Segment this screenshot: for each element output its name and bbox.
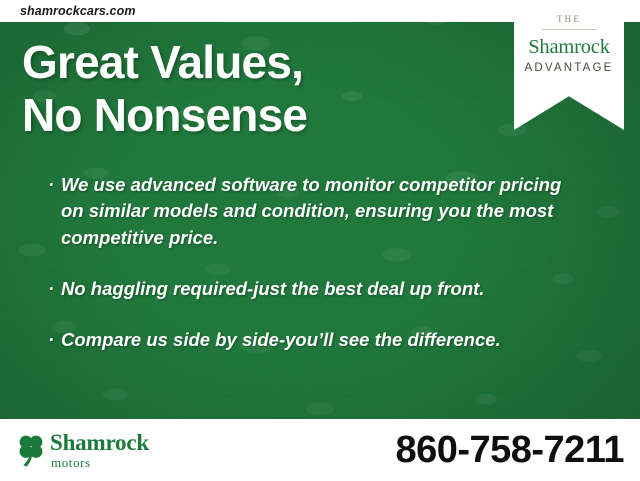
website-url[interactable]: shamrockcars.com: [0, 4, 136, 18]
bullet-dot-icon: ·: [48, 276, 61, 302]
advertisement-banner: shamrockcars.com THE Shamrock ADVANTAGE …: [0, 0, 640, 481]
badge-the-label: THE: [514, 14, 624, 24]
bullet-text: We use advanced software to monitor comp…: [61, 172, 578, 251]
headline-line-1: Great Values,: [22, 36, 307, 89]
dealer-name: Shamrock: [50, 431, 149, 454]
dealer-name-block: Shamrock motors: [50, 431, 149, 469]
headline-line-2: No Nonsense: [22, 89, 307, 142]
headline: Great Values, No Nonsense: [22, 36, 307, 143]
phone-number[interactable]: 860-758-7211: [395, 429, 640, 472]
badge-advantage-label: ADVANTAGE: [514, 62, 624, 74]
list-item: · We use advanced software to monitor co…: [48, 172, 578, 251]
bullet-text: No haggling required-just the best deal …: [61, 276, 578, 302]
badge-divider: [542, 29, 596, 30]
bullet-text: Compare us side by side-you’ll see the d…: [61, 327, 578, 353]
bullet-list: · We use advanced software to monitor co…: [48, 172, 578, 353]
footer-bar: Shamrock motors 860-758-7211: [0, 419, 640, 481]
bullet-dot-icon: ·: [48, 172, 61, 198]
badge-shamrock-label: Shamrock: [514, 36, 624, 59]
dealer-logo[interactable]: Shamrock motors: [0, 431, 149, 469]
bullet-dot-icon: ·: [48, 327, 61, 353]
dealer-subtitle: motors: [50, 456, 149, 469]
list-item: · Compare us side by side-you’ll see the…: [48, 327, 578, 353]
clover-icon: [16, 433, 46, 467]
list-item: · No haggling required-just the best dea…: [48, 276, 578, 302]
